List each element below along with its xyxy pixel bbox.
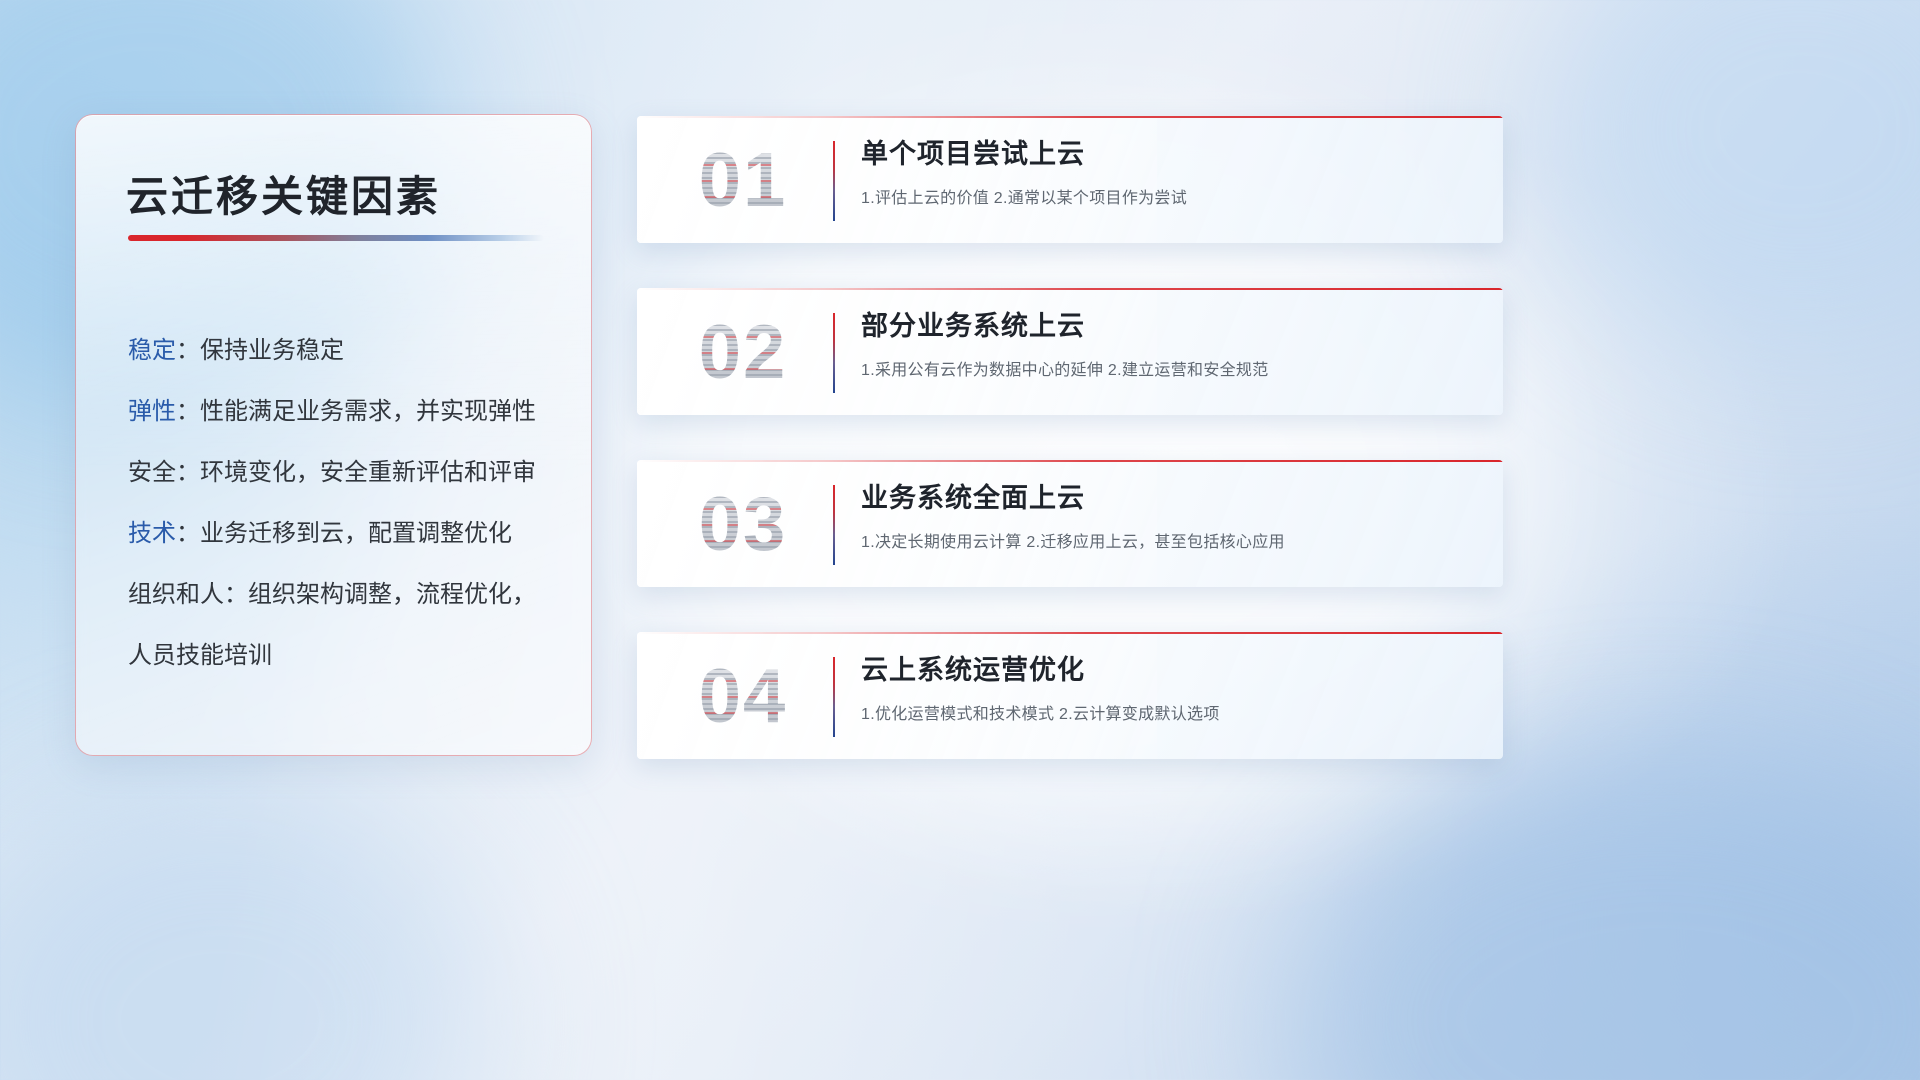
step-body-04: 云上系统运营优化 1.优化运营模式和技术模式 2.云计算变成默认选项 [861, 650, 1475, 724]
step-title-01: 单个项目尝试上云 [861, 134, 1475, 174]
step-divider-04 [833, 657, 835, 737]
step-title-02: 部分业务系统上云 [861, 306, 1475, 346]
title-underline-gradient [128, 235, 544, 241]
step-title-03: 业务系统全面上云 [861, 478, 1475, 518]
factor-sep-security: ： [176, 459, 200, 486]
factor-text-stability: 保持业务稳定 [200, 337, 344, 364]
page-title: 云迁移关键因素 [126, 163, 441, 224]
background-blob-bottom-left [0, 780, 500, 1080]
factor-sep-elasticity: ： [176, 398, 200, 425]
factor-sep-stability: ： [176, 337, 200, 364]
factor-item-security: 安全：环境变化，安全重新评估和评审 [128, 442, 558, 503]
step-desc-04: 1.优化运营模式和技术模式 2.云计算变成默认选项 [861, 700, 1475, 724]
step-card-01[interactable]: 01 01 单个项目尝试上云 1.评估上云的价值 2.通常以某个项目作为尝试 [637, 116, 1503, 243]
step-desc-02: 1.采用公有云作为数据中心的延伸 2.建立运营和安全规范 [861, 356, 1475, 380]
step-number-02: 02 [663, 304, 823, 400]
background-blob-top-right [1540, 0, 1920, 360]
step-number-01: 01 [663, 132, 823, 228]
key-factors-panel: 云迁移关键因素 稳定：保持业务稳定 弹性：性能满足业务需求，并实现弹性 安全：环… [75, 114, 592, 756]
factor-sep-technology: ： [176, 520, 200, 547]
factor-list: 稳定：保持业务稳定 弹性：性能满足业务需求，并实现弹性 安全：环境变化，安全重新… [128, 320, 558, 686]
step-number-04: 04 [663, 648, 823, 744]
factor-item-technology: 技术：业务迁移到云，配置调整优化 [128, 503, 558, 564]
migration-steps-list: 01 01 单个项目尝试上云 1.评估上云的价值 2.通常以某个项目作为尝试 0… [637, 116, 1503, 804]
factor-label-elasticity: 弹性 [128, 398, 176, 425]
factor-text-security: 环境变化，安全重新评估和评审 [200, 459, 536, 486]
background-blob-bottom-right [1280, 760, 1920, 1080]
factor-label-security: 安全 [128, 459, 176, 486]
factor-label-organization: 组织和人 [128, 581, 224, 608]
factor-text-elasticity: 性能满足业务需求，并实现弹性 [200, 398, 536, 425]
step-divider-02 [833, 313, 835, 393]
step-body-03: 业务系统全面上云 1.决定长期使用云计算 2.迁移应用上云，甚至包括核心应用 [861, 478, 1475, 552]
step-desc-03: 1.决定长期使用云计算 2.迁移应用上云，甚至包括核心应用 [861, 528, 1475, 552]
factor-sep-organization: ： [224, 581, 248, 608]
factor-item-elasticity: 弹性：性能满足业务需求，并实现弹性 [128, 381, 558, 442]
step-card-02[interactable]: 02 02 部分业务系统上云 1.采用公有云作为数据中心的延伸 2.建立运营和安… [637, 288, 1503, 415]
step-divider-03 [833, 485, 835, 565]
step-divider-01 [833, 141, 835, 221]
step-desc-01: 1.评估上云的价值 2.通常以某个项目作为尝试 [861, 184, 1475, 208]
step-card-04[interactable]: 04 04 云上系统运营优化 1.优化运营模式和技术模式 2.云计算变成默认选项 [637, 632, 1503, 759]
step-number-03: 03 [663, 476, 823, 572]
factor-item-organization: 组织和人：组织架构调整，流程优化，人员技能培训 [128, 564, 558, 686]
factor-label-technology: 技术 [128, 520, 176, 547]
factor-item-stability: 稳定：保持业务稳定 [128, 320, 558, 381]
factor-label-stability: 稳定 [128, 337, 176, 364]
step-body-01: 单个项目尝试上云 1.评估上云的价值 2.通常以某个项目作为尝试 [861, 134, 1475, 208]
step-card-03[interactable]: 03 03 业务系统全面上云 1.决定长期使用云计算 2.迁移应用上云，甚至包括… [637, 460, 1503, 587]
step-body-02: 部分业务系统上云 1.采用公有云作为数据中心的延伸 2.建立运营和安全规范 [861, 306, 1475, 380]
step-title-04: 云上系统运营优化 [861, 650, 1475, 690]
factor-text-technology: 业务迁移到云，配置调整优化 [200, 520, 512, 547]
